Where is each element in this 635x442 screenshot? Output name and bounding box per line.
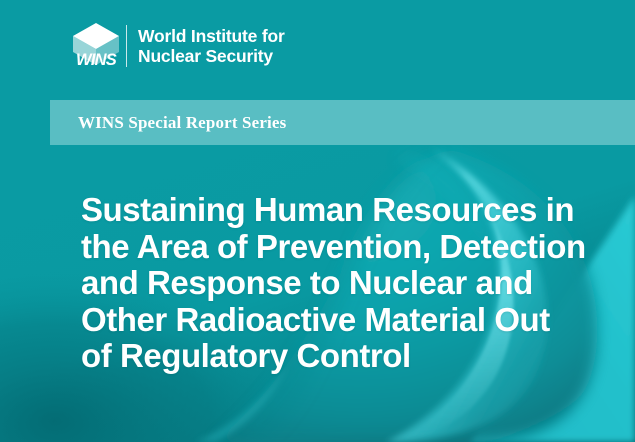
title-line: of Regulatory Control [81, 338, 581, 375]
title-line: Sustaining Human Resources in [81, 192, 581, 229]
wins-cube-logo-icon: WINS [70, 21, 122, 71]
logo-wordmark: World Institute for Nuclear Security [138, 26, 285, 67]
report-cover-page: WINS World Institute for Nuclear Securit… [0, 0, 635, 442]
svg-text:WINS: WINS [76, 51, 117, 69]
series-label: WINS Special Report Series [50, 113, 286, 133]
wins-logo-lockup[interactable]: WINS World Institute for Nuclear Securit… [70, 18, 285, 74]
logo-wordmark-line-2: Nuclear Security [138, 46, 285, 67]
title-line: Other Radioactive Material Out [81, 302, 581, 339]
logo-wordmark-line-1: World Institute for [138, 26, 285, 47]
title-line: and Response to Nuclear and [81, 265, 581, 302]
logo-divider [126, 25, 127, 67]
title-line: the Area of Prevention, Detection [81, 229, 581, 266]
page-title: Sustaining Human Resources in the Area o… [81, 192, 581, 375]
series-band: WINS Special Report Series [50, 100, 635, 145]
